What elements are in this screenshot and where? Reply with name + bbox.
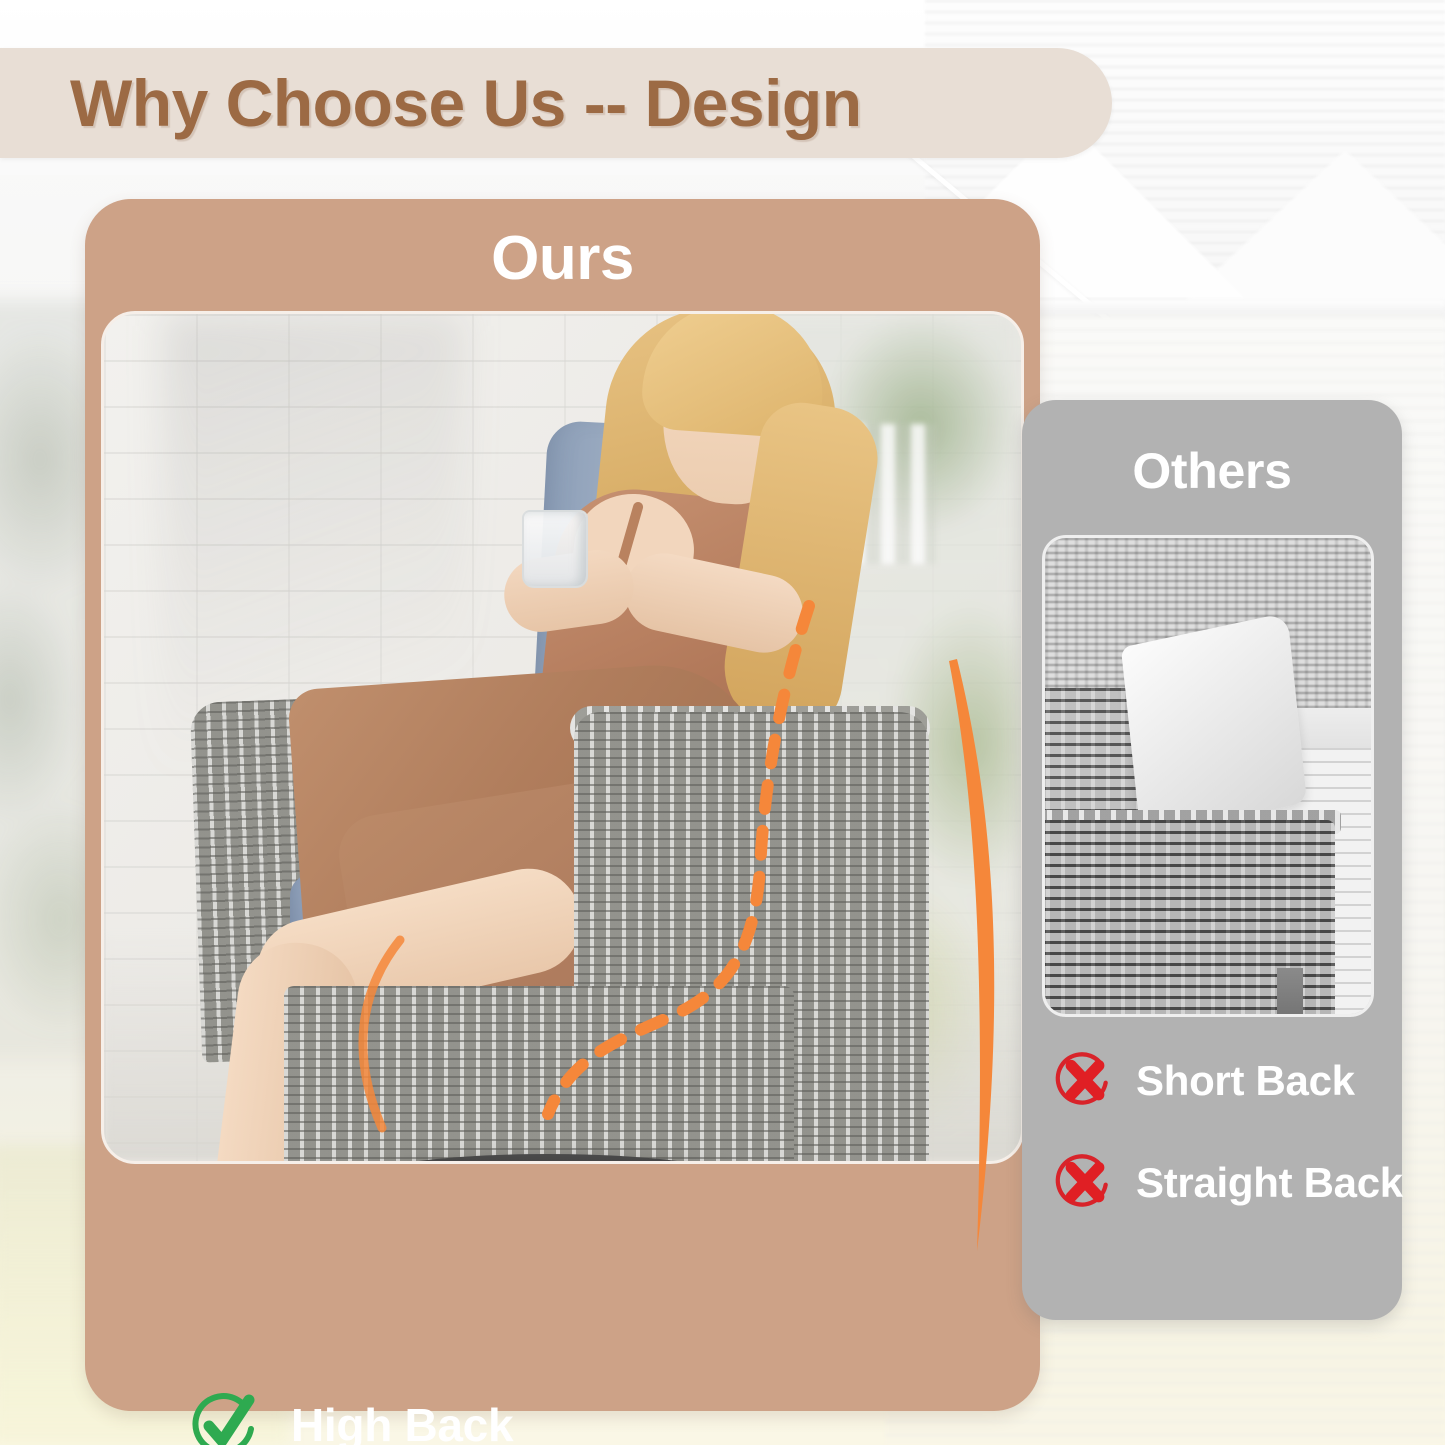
others-title: Others bbox=[1022, 442, 1402, 500]
others-feature-label: Straight Back bbox=[1136, 1159, 1403, 1207]
cross-circle-icon bbox=[1054, 1152, 1116, 1214]
infographic-canvas: Why Choose Us -- Design Ours bbox=[0, 0, 1445, 1445]
ours-feature-label: High Back bbox=[291, 1398, 513, 1445]
drink-glass bbox=[522, 510, 588, 588]
check-circle-icon bbox=[189, 1389, 261, 1445]
others-feature-label: Short Back bbox=[1136, 1057, 1355, 1105]
cross-circle-icon bbox=[1054, 1050, 1116, 1112]
ours-product-photo bbox=[101, 311, 1024, 1164]
ours-feature-row: High Back bbox=[189, 1389, 513, 1445]
others-card: Others Short Back bbox=[1022, 400, 1402, 1320]
ours-title: Ours bbox=[85, 223, 1040, 294]
page-title: Why Choose Us -- Design bbox=[70, 65, 862, 141]
others-product-photo bbox=[1042, 535, 1374, 1017]
title-banner: Why Choose Us -- Design bbox=[0, 48, 1112, 158]
others-feature-row: Straight Back bbox=[1054, 1152, 1403, 1214]
others-feature-row: Short Back bbox=[1054, 1050, 1355, 1112]
others-white-pillow bbox=[1121, 612, 1307, 837]
ours-card: Ours bbox=[85, 199, 1040, 1411]
chair-base-weave bbox=[284, 986, 794, 1164]
others-sofa-leg bbox=[1277, 968, 1303, 1017]
